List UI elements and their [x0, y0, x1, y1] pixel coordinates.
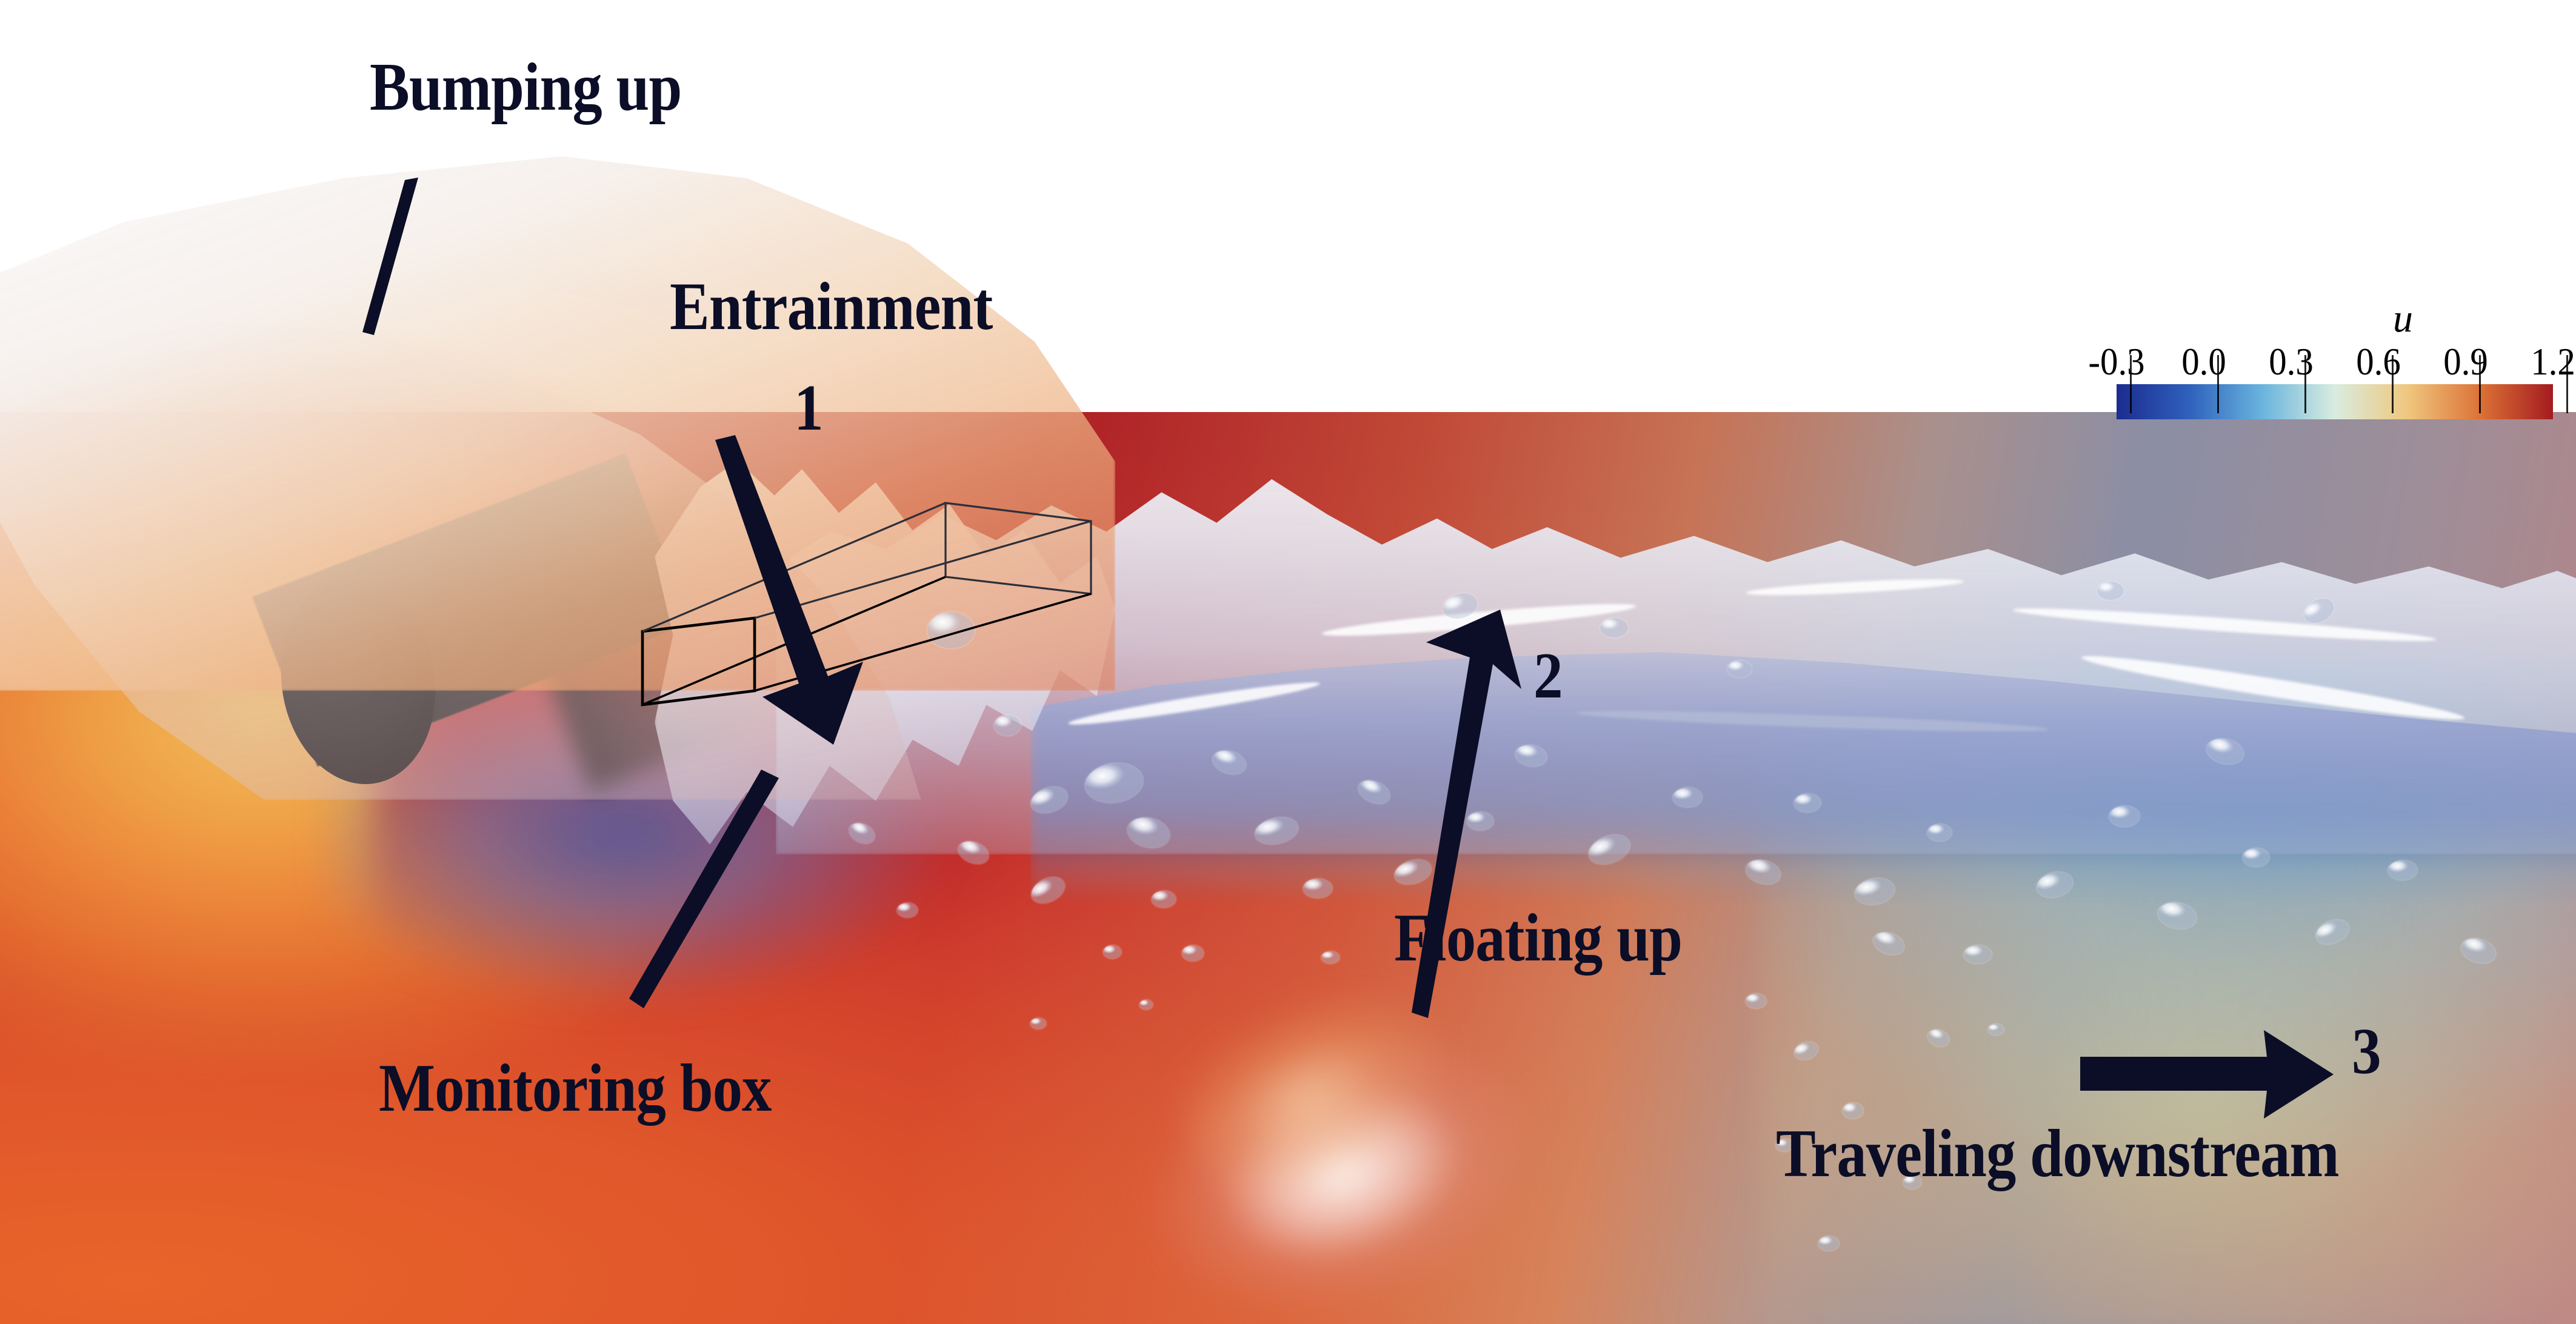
colorbar-tick-0 — [2130, 355, 2132, 413]
colorbar-ticks — [2130, 355, 2566, 413]
colorbar-tick-2 — [2304, 355, 2306, 413]
colorbar: u -0.30.00.30.60.91.2 — [2103, 339, 2564, 473]
colorbar-gradient — [2117, 384, 2553, 419]
label-traveling-downstream: Traveling downstream — [1776, 1120, 2339, 1188]
monitoring-box-wireframe — [642, 503, 1164, 757]
label-monitoring-box: Monitoring box — [379, 1054, 772, 1122]
label-entrainment: Entrainment — [670, 273, 992, 341]
label-floating-up: Floating up — [1394, 904, 1682, 972]
label-bumping-up: Bumping up — [370, 53, 681, 121]
marker-traveling-downstream-3: 3 — [2352, 1019, 2381, 1085]
colorbar-variable-label: u — [2393, 296, 2413, 342]
colorbar-tick-3 — [2392, 355, 2394, 413]
marker-floating-up-2: 2 — [1533, 644, 1563, 709]
colorbar-tick-1 — [2217, 355, 2219, 413]
marker-entrainment-1: 1 — [794, 376, 824, 441]
colorbar-tick-4 — [2479, 355, 2481, 413]
figure-canvas: Bumping up Entrainment 1 Monitoring box … — [0, 0, 2576, 1324]
colorbar-tick-5 — [2566, 355, 2568, 413]
